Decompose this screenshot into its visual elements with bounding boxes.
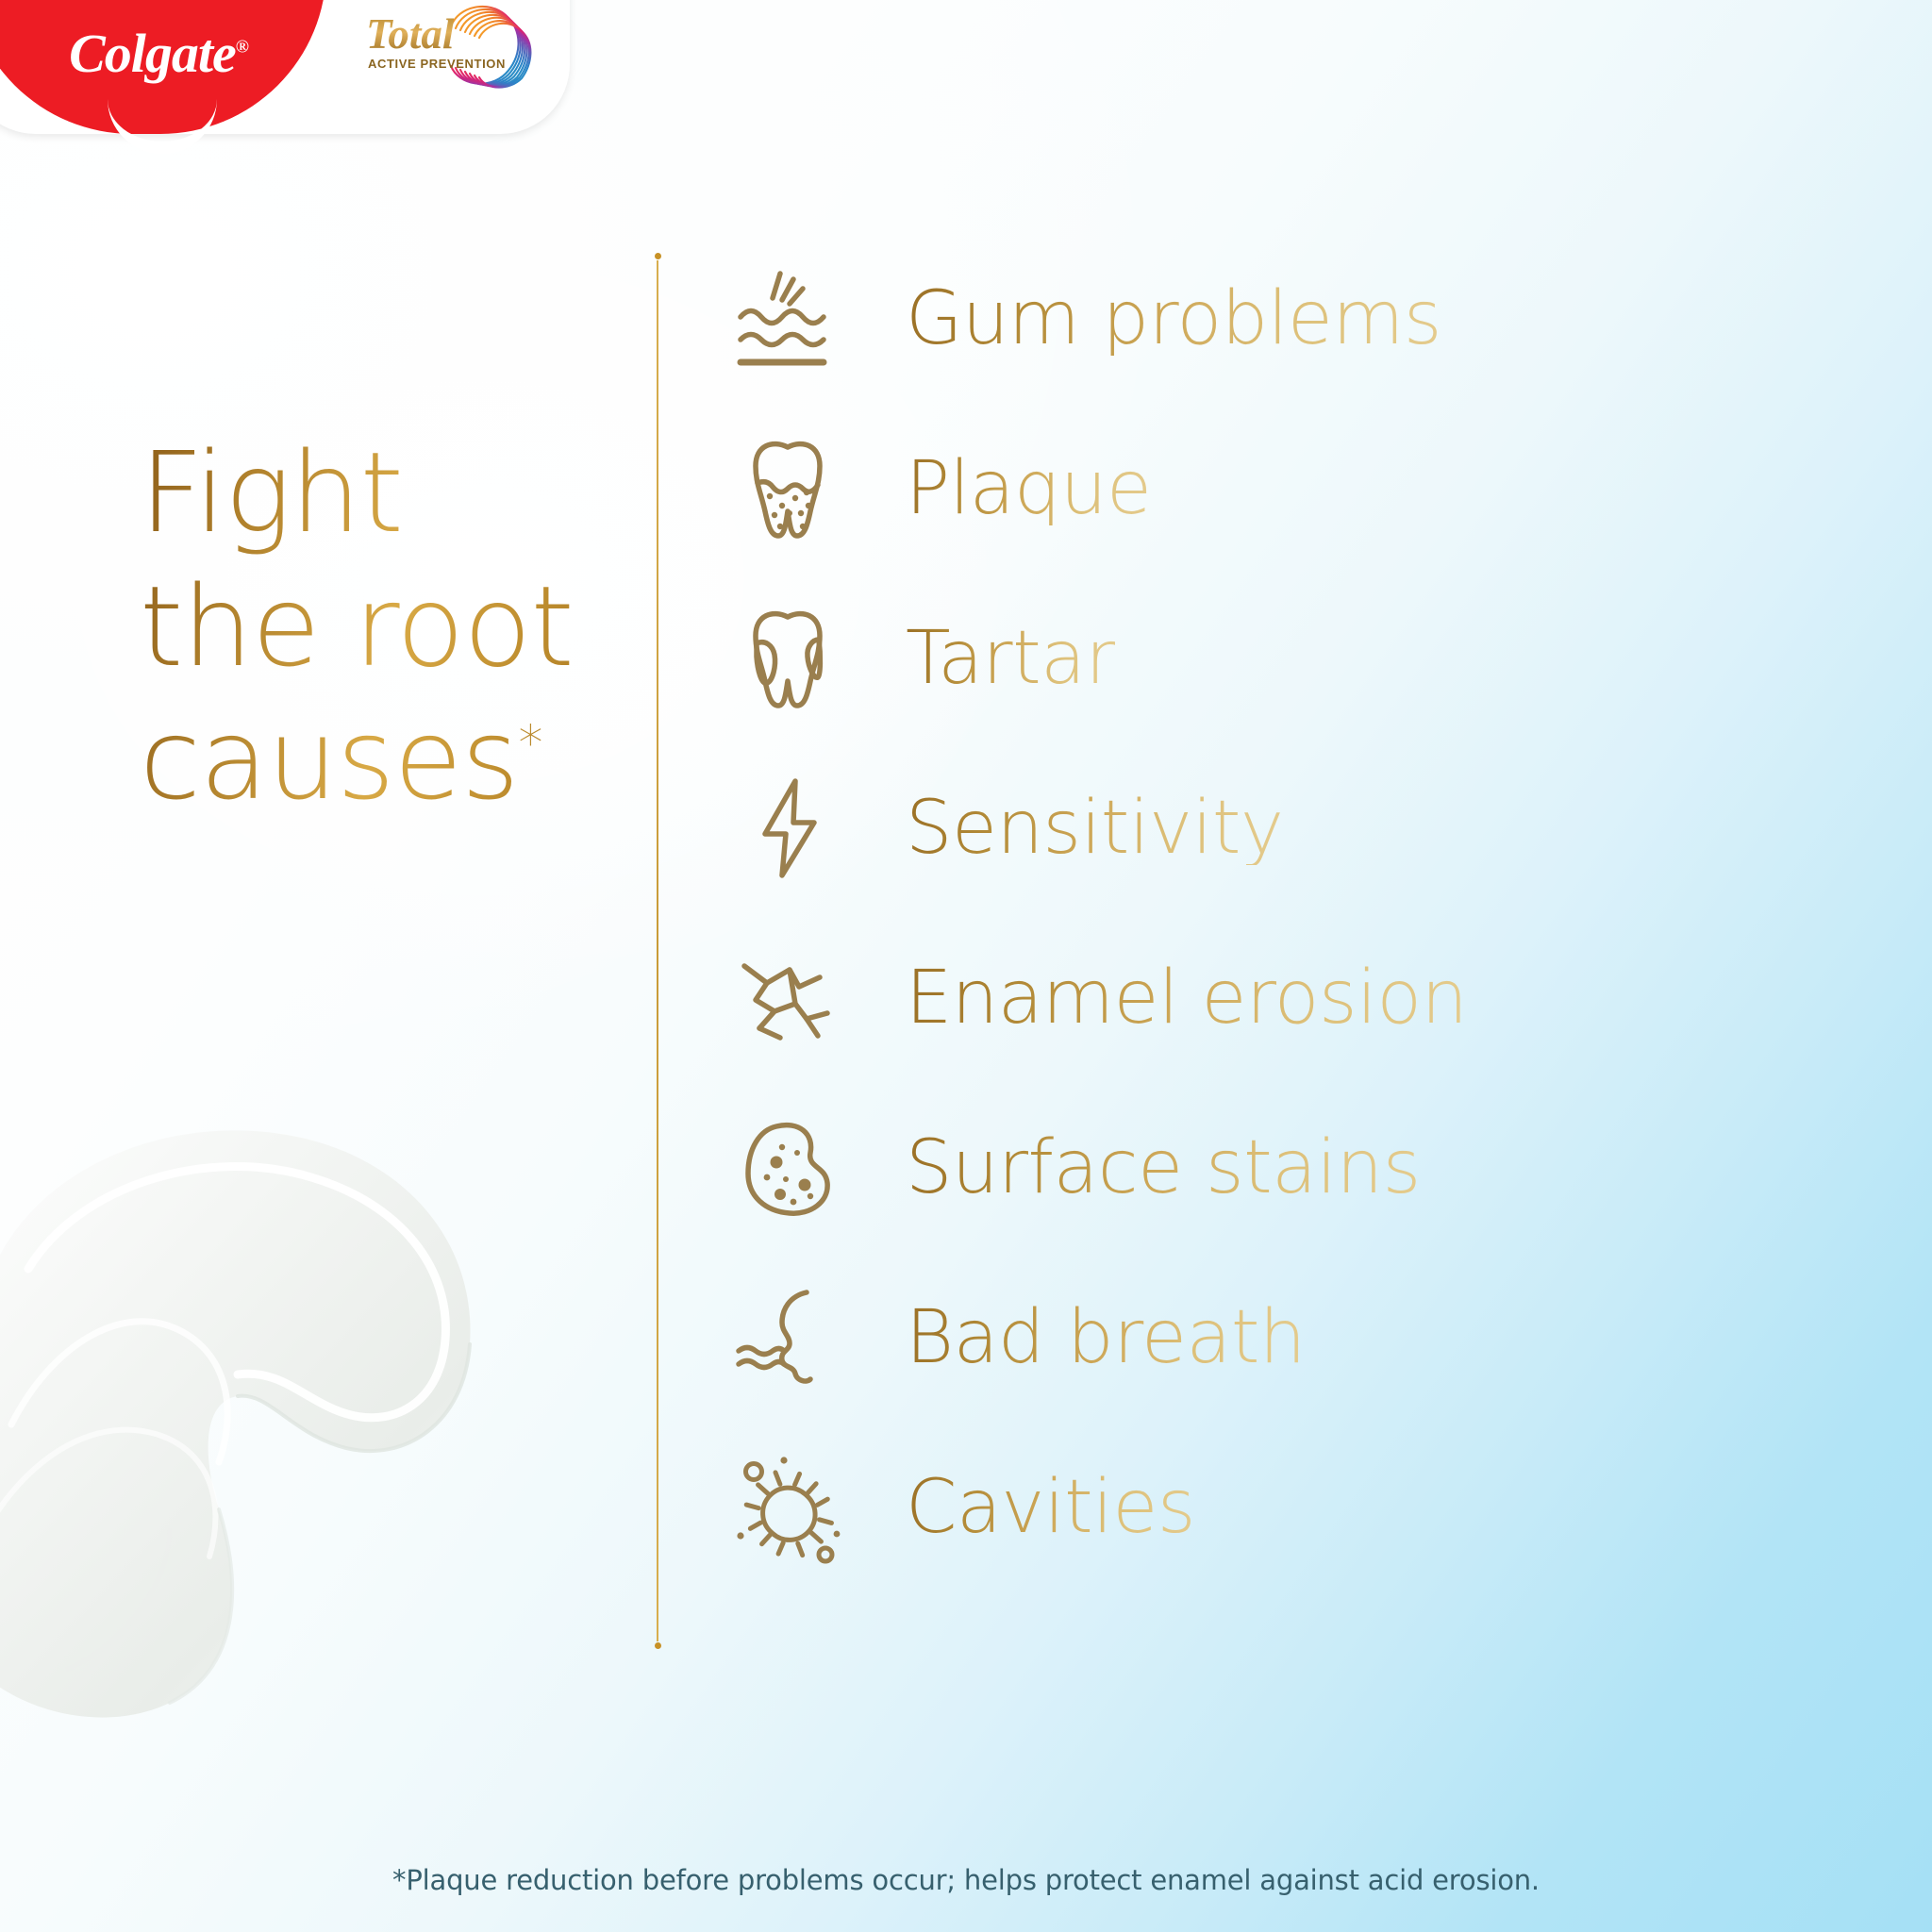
headline-line-1: Fight <box>140 426 724 560</box>
list-item: Sensitivity <box>717 743 1868 913</box>
list-item: Gum problems <box>717 234 1868 404</box>
benefits-list: Gum problems Plaque <box>717 234 1868 1592</box>
bad-breath-face-icon <box>717 1267 858 1408</box>
colgate-wordmark: Colgate® <box>17 26 300 81</box>
list-item-label: Cavities <box>906 1471 1195 1544</box>
headline-line-3-text: causes <box>140 694 519 824</box>
list-item-label: Tartar <box>906 622 1115 695</box>
headline-asterisk: * <box>519 716 542 773</box>
list-item: Enamel erosion <box>717 913 1868 1083</box>
stain-blob-icon <box>717 1097 858 1239</box>
colgate-text: Colgate <box>69 23 236 84</box>
registered-mark: ® <box>236 38 248 58</box>
headline-line-2: the root <box>140 560 724 694</box>
list-item: Plaque <box>717 404 1868 574</box>
divider-line <box>657 260 658 1641</box>
total-sub-logo: Total ACTIVE PREVENTION <box>343 0 523 100</box>
lightning-bolt-icon <box>717 758 858 899</box>
list-item: Surface stains <box>717 1083 1868 1253</box>
list-item: Tartar <box>717 574 1868 743</box>
total-tagline: ACTIVE PREVENTION <box>368 57 506 71</box>
list-item: Cavities <box>717 1423 1868 1592</box>
promo-graphic: Colgate® <box>0 0 1932 1932</box>
divider-dot-top <box>655 253 661 259</box>
page-title: Fight the root causes* <box>140 426 724 827</box>
vertical-divider <box>655 253 661 1649</box>
gum-waves-icon <box>717 248 858 390</box>
list-item-label: Plaque <box>906 452 1151 525</box>
list-item-label: Bad breath <box>906 1301 1306 1374</box>
enamel-crack-icon <box>717 927 858 1069</box>
list-item-label: Enamel erosion <box>906 961 1467 1035</box>
list-item: Bad breath <box>717 1253 1868 1423</box>
tooth-plaque-icon <box>717 418 858 559</box>
toothpaste-swirl-image <box>0 1019 604 1736</box>
footnote-text: *Plaque reduction before problems occur;… <box>0 1864 1932 1896</box>
headline-line-3: causes* <box>140 693 724 827</box>
list-item-label: Sensitivity <box>906 791 1284 865</box>
divider-dot-bottom <box>655 1642 661 1649</box>
brand-logo: Colgate® <box>0 0 570 136</box>
list-item-label: Surface stains <box>906 1131 1421 1205</box>
list-item-label: Gum problems <box>906 282 1441 356</box>
tooth-tartar-icon <box>717 588 858 729</box>
total-wordmark: Total <box>366 13 454 56</box>
bacteria-germ-icon <box>717 1437 858 1578</box>
